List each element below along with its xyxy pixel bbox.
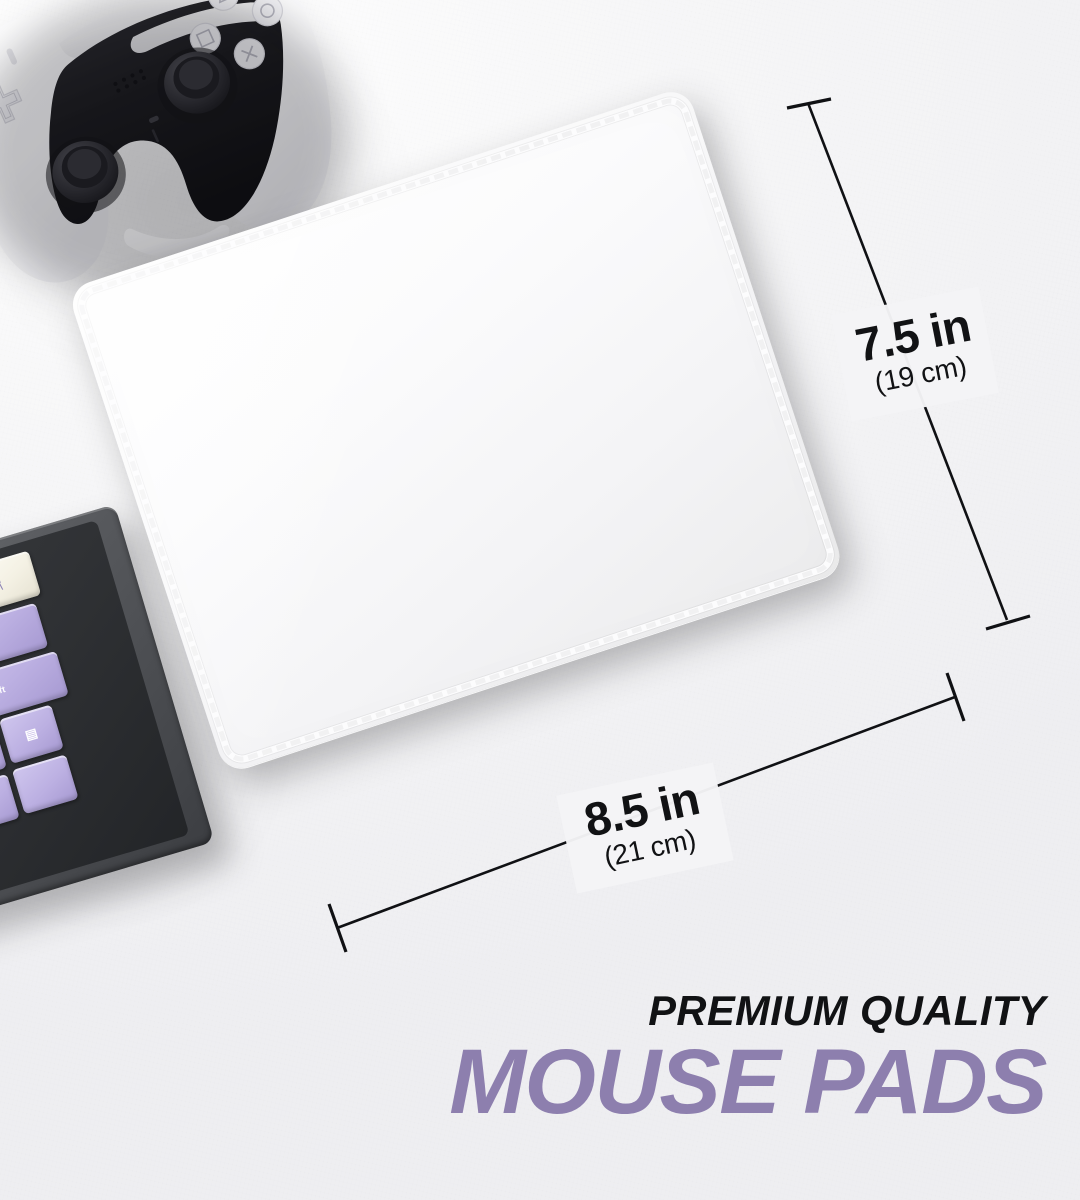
headline-eyebrow: PREMIUM QUALITY [10, 990, 1046, 1032]
headline-title: MOUSE PADS [0, 1038, 1046, 1126]
key-menu[interactable]: ▤ [0, 704, 64, 763]
key-win[interactable] [12, 754, 79, 814]
product-marketing-image: += ← Backspace |\ {[ }] ↵ Enter :; ”’ ⇧ … [0, 0, 1080, 1200]
headline-block: PREMIUM QUALITY MOUSE PADS [0, 990, 1080, 1126]
